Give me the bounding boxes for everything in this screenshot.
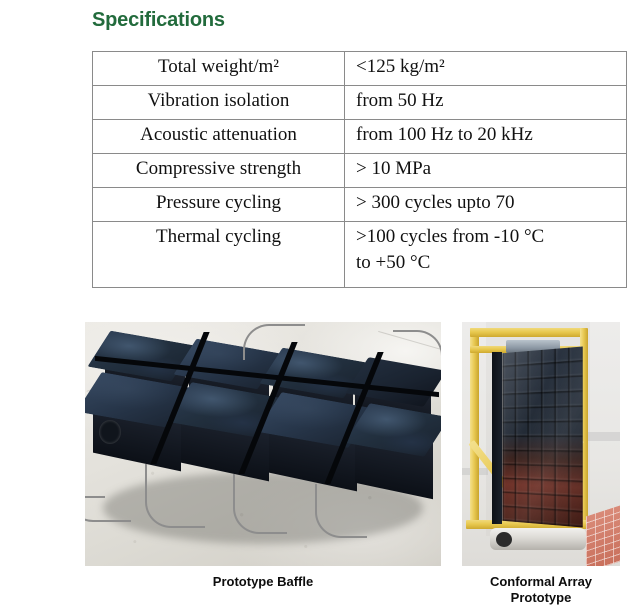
spec-value-cell: > 300 cycles upto 70 <box>345 188 627 222</box>
spec-value-text: from 50 Hz <box>356 88 622 114</box>
table-row: Vibration isolation from 50 Hz <box>93 86 627 120</box>
table-row: Thermal cycling >100 cycles from -10 °C … <box>93 222 627 288</box>
specifications-table-body: Total weight/m² <125 kg/m² Vibration iso… <box>93 52 627 288</box>
conformal-array-photo <box>462 322 620 566</box>
spec-label-cell: Total weight/m² <box>93 52 345 86</box>
spec-label-cell: Vibration isolation <box>93 86 345 120</box>
spec-value-cell: <125 kg/m² <box>345 52 627 86</box>
spec-label-text: Total weight/m² <box>97 54 340 80</box>
spec-value-text: <125 kg/m² <box>356 54 622 80</box>
caption-text-line2: Prototype <box>511 590 572 605</box>
spec-value-cell: from 100 Hz to 20 kHz <box>345 120 627 154</box>
table-row: Acoustic attenuation from 100 Hz to 20 k… <box>93 120 627 154</box>
baffle-connector <box>99 420 121 444</box>
table-row: Compressive strength > 10 MPa <box>93 154 627 188</box>
spec-value-text: > 300 cycles upto 70 <box>356 190 622 216</box>
array-panel-side <box>492 352 502 524</box>
spec-value-text-line2: to +50 °C <box>356 250 622 276</box>
baffle-cable <box>315 484 367 538</box>
baffle-cable <box>85 460 131 522</box>
spec-value-text: >100 cycles from -10 °C <box>356 224 622 250</box>
spec-value-text: from 100 Hz to 20 kHz <box>356 122 622 148</box>
spec-label-cell: Thermal cycling <box>93 222 345 288</box>
frame-beam-top <box>470 328 586 337</box>
spec-label-text: Acoustic attenuation <box>97 122 340 148</box>
spec-value-cell: from 50 Hz <box>345 86 627 120</box>
spec-value-cell: >100 cycles from -10 °C to +50 °C <box>345 222 627 288</box>
caption-prototype-baffle: Prototype Baffle <box>85 574 441 590</box>
spec-label-text: Thermal cycling <box>97 224 340 250</box>
caption-text: Prototype Baffle <box>213 574 313 589</box>
pipe-end-cap <box>496 532 512 547</box>
baffle-cable <box>233 474 287 534</box>
table-row: Pressure cycling > 300 cycles upto 70 <box>93 188 627 222</box>
spec-label-text: Vibration isolation <box>97 88 340 114</box>
baffle-cable <box>243 324 305 360</box>
caption-text-line1: Conformal Array <box>490 574 592 589</box>
array-panel <box>502 346 582 527</box>
frame-post-left <box>470 328 479 526</box>
baffle-cable <box>145 464 205 528</box>
caption-conformal-array: Conformal Array Prototype <box>455 574 627 606</box>
prototype-baffle-photo <box>85 322 441 566</box>
page-title: Specifications <box>92 9 225 32</box>
array-specular-highlight <box>502 346 582 527</box>
spec-label-cell: Compressive strength <box>93 154 345 188</box>
baffle-assembly <box>93 334 433 534</box>
spec-label-cell: Acoustic attenuation <box>93 120 345 154</box>
spec-label-cell: Pressure cycling <box>93 188 345 222</box>
spec-label-text: Compressive strength <box>97 156 340 182</box>
specifications-table: Total weight/m² <125 kg/m² Vibration iso… <box>92 51 627 288</box>
spec-label-text: Pressure cycling <box>97 190 340 216</box>
spec-value-text: > 10 MPa <box>356 156 622 182</box>
spec-value-cell: > 10 MPa <box>345 154 627 188</box>
table-row: Total weight/m² <125 kg/m² <box>93 52 627 86</box>
